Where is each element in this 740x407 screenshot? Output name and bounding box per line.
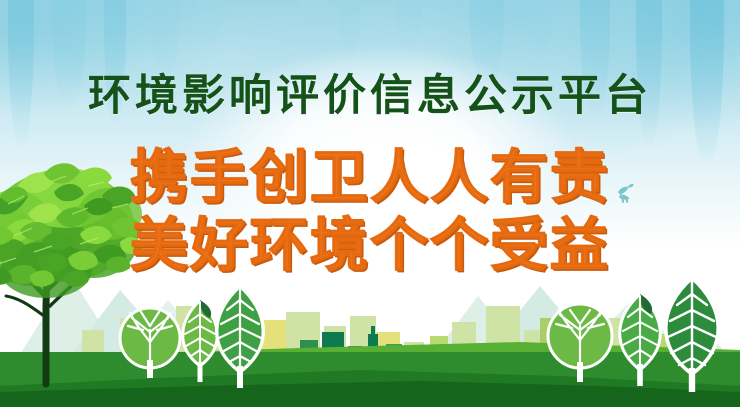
slogan-line-2: 美好环境个个受益 xyxy=(0,214,740,276)
environmental-banner: 环境影响评价信息公示平台 携手创卫人人有责 美好环境个个受益 xyxy=(0,0,740,407)
slogan-line-1: 携手创卫人人有责 xyxy=(0,146,740,208)
page-title: 环境影响评价信息公示平台 xyxy=(0,72,740,120)
